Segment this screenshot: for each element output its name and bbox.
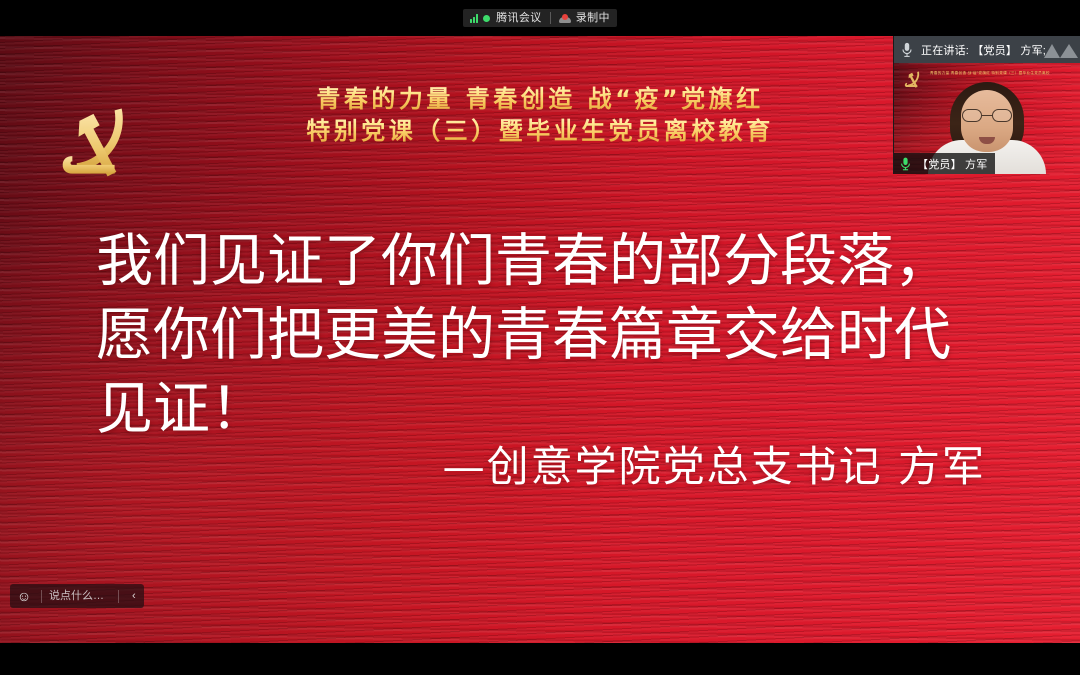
- status-divider: [550, 12, 551, 24]
- chat-collapse-button[interactable]: ‹: [126, 584, 142, 608]
- speaker-name-tag: 【党员】 方军: [894, 153, 995, 174]
- hammer-and-sickle-icon-mini: [902, 69, 924, 90]
- recording-label: 录制中: [576, 9, 610, 27]
- chat-divider: [41, 590, 42, 603]
- chat-input-bar[interactable]: ☺ 说点什么… ‹: [10, 584, 144, 608]
- speaker-title-label: 正在讲话: 【党员】 方军;: [921, 42, 1046, 58]
- chat-divider-2: [118, 590, 119, 603]
- signal-bars-icon: [470, 14, 478, 23]
- smiley-face-icon[interactable]: ☺: [14, 586, 34, 606]
- speaker-name-label: 【党员】 方军: [917, 156, 987, 172]
- slide-attribution-text: —创意学院党总支书记 方军: [96, 440, 986, 494]
- meeting-status-bar: 腾讯会议 录制中: [0, 0, 1080, 36]
- bottom-letterbox: [0, 643, 1080, 675]
- microphone-icon: [900, 42, 914, 58]
- hammer-and-sickle-icon: [52, 98, 142, 186]
- speaker-header-bar: 正在讲话: 【党员】 方军;: [894, 36, 1080, 63]
- slide-quote-text: 我们见证了你们青春的部分段落，愿你们把更美的青春篇章交给时代见证！: [96, 224, 1006, 446]
- speaker-mini-slide-title: 青春的力量 青春创造 战“疫”党旗红 特别党课（三）暨毕业生党员离校教育: [930, 70, 1050, 76]
- meeting-screen: 腾讯会议 录制中 青春的力量 青春创造 战“疫”党旗: [0, 0, 1080, 675]
- microphone-active-icon: [900, 157, 911, 171]
- recording-icon: [559, 14, 571, 23]
- audio-wave-icon: [1044, 40, 1078, 58]
- chat-input-placeholder[interactable]: 说点什么…: [49, 584, 111, 608]
- presenter-glasses: [962, 109, 1012, 122]
- speaker-video-feed[interactable]: 青春的力量 青春创造 战“疫”党旗红 特别党课（三）暨毕业生党员离校教育 【党员…: [894, 63, 1080, 174]
- speaker-video-panel[interactable]: 正在讲话: 【党员】 方军; 青春的力量 青春创造 战“疫”党旗红 特别党课（三…: [893, 36, 1080, 174]
- meeting-status-chip: 腾讯会议 录制中: [463, 9, 617, 27]
- green-dot-icon: [483, 15, 490, 22]
- app-name-label: 腾讯会议: [496, 9, 542, 27]
